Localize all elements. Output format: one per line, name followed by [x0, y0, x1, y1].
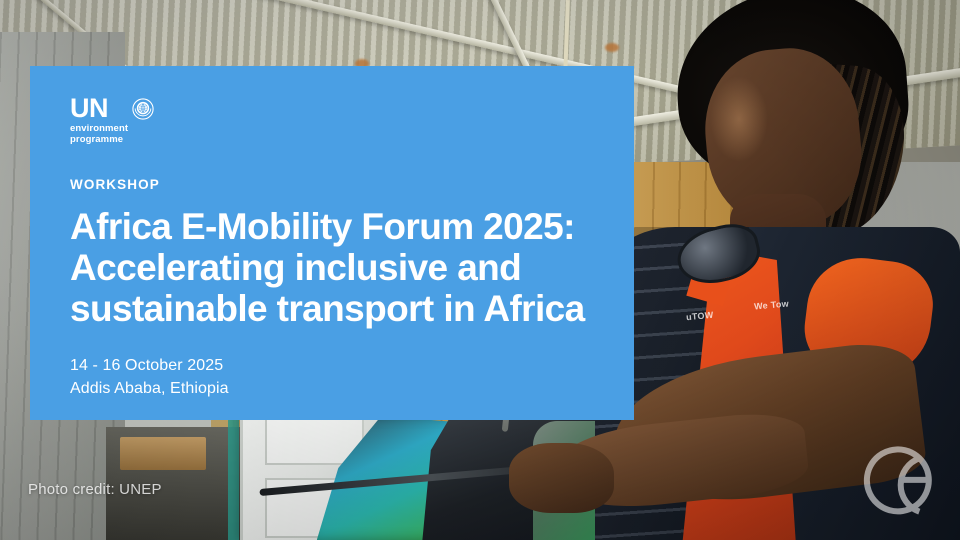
vest-brand-text-1: uTOW: [686, 309, 714, 321]
unep-sub-line-1: environment: [70, 123, 128, 134]
shelf-carton: [120, 437, 206, 469]
unep-e-mark-watermark: [860, 442, 946, 528]
un-emblem-icon: [132, 98, 154, 120]
presentation-slide: uTOW We Tow UN environment programme: [0, 0, 960, 540]
roof-rust-spot: [605, 43, 619, 52]
title-line-1: Africa E-Mobility Forum 2025:: [70, 206, 575, 247]
unep-logo-lockup: UN environment programme: [70, 96, 598, 145]
teal-door-frame: [228, 400, 239, 540]
person-hand-on-handlebar: [509, 443, 615, 513]
page-title: Africa E-Mobility Forum 2025: Accelerati…: [70, 206, 598, 329]
content-panel: UN environment programme WORKSHOP: [30, 66, 634, 420]
event-location: Addis Ababa, Ethiopia: [70, 378, 598, 401]
face-highlight: [710, 76, 768, 162]
un-wordmark: UN: [70, 96, 128, 121]
unep-sub-line-2: programme: [70, 134, 128, 145]
title-line-3: sustainable transport in Africa: [70, 288, 585, 329]
event-dates: 14 - 16 October 2025: [70, 355, 598, 378]
photo-credit: Photo credit: UNEP: [28, 481, 162, 498]
title-line-2: Accelerating inclusive and: [70, 247, 521, 288]
eyebrow-label: WORKSHOP: [70, 177, 598, 192]
unep-logo-text-block: UN environment programme: [70, 96, 128, 145]
unep-sub-wordmark: environment programme: [70, 123, 128, 145]
